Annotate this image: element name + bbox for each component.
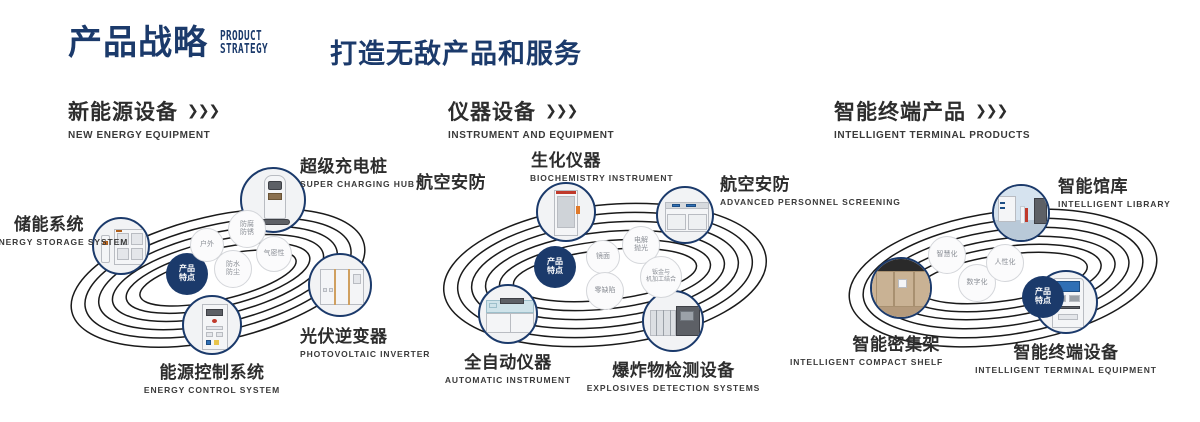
- feature-line-1: 钣金与: [652, 270, 670, 277]
- feature-line-1: 气密性: [264, 250, 285, 258]
- feature-bubble-mirror-finish: 镜面: [586, 240, 620, 274]
- cluster-instrument: 生化仪器 BIOCHEMISTRY INSTRUMENT 航空安防 航空安防 A…: [400, 150, 820, 400]
- label-cn: 爆炸物检测设备: [586, 356, 761, 381]
- label-en: INTELLIGENT LIBRARY: [1058, 199, 1171, 209]
- poster-stage: 产品战略 PRODUCT STRATEGY 打造无敌产品和服务 新能源设备 ❯❯…: [0, 0, 1200, 422]
- node-explosives-detection-systems[interactable]: [642, 290, 704, 352]
- core-bubble-product-features: 产品 特点: [1022, 276, 1064, 318]
- feature-line-1: 数字化: [967, 279, 988, 287]
- feature-line-2: 防尘: [226, 269, 240, 277]
- section-title-en: NEW ENERGY EQUIPMENT: [68, 130, 219, 141]
- label-energy-control-system: 能源控制系统 ENERGY CONTROL SYSTEM: [112, 358, 312, 395]
- label-explosives-detection-systems: 爆炸物检测设备 EXPLOSIVES DETECTION SYSTEMS: [586, 356, 761, 393]
- feature-bubble-zero-defect: 零缺陷: [586, 272, 624, 310]
- section-header-new-energy: 新能源设备 ❯❯❯ NEW ENERGY EQUIPMENT: [68, 96, 219, 141]
- label-cn: 全自动仪器: [422, 348, 594, 373]
- chevron-right-icon: ❯❯❯: [545, 103, 577, 119]
- poster-subtitle: 打造无敌产品和服务: [330, 32, 582, 71]
- feature-line-1: 户外: [200, 241, 214, 249]
- cluster-new-energy: 储能系统 ENERGY STORAGE SYSTEM 超级充电桩 SUPER C…: [0, 150, 420, 400]
- feature-bubble-smart: 智慧化: [928, 236, 966, 274]
- explosives-detector-icon: [644, 292, 702, 350]
- core-line-2: 特点: [547, 267, 563, 276]
- label-en: BIOCHEMISTRY INSTRUMENT: [530, 173, 602, 183]
- label-biochemistry-instrument: 生化仪器 BIOCHEMISTRY INSTRUMENT: [530, 146, 602, 183]
- label-cn: 生化仪器: [530, 146, 602, 171]
- label-cn: 智能馆库: [1058, 172, 1171, 197]
- node-energy-control-system[interactable]: [182, 295, 242, 355]
- core-line-2: 特点: [1035, 297, 1051, 306]
- section-header-intelligent: 智能终端产品 ❯❯❯ INTELLIGENT TERMINAL PRODUCTS: [834, 96, 1030, 141]
- label-en: ENERGY CONTROL SYSTEM: [112, 385, 312, 395]
- node-automatic-instrument[interactable]: [478, 284, 538, 344]
- feature-line-1: 人性化: [995, 259, 1016, 267]
- label-intelligent-terminal-equipment: 智能终端设备 INTELLIGENT TERMINAL EQUIPMENT: [970, 338, 1162, 375]
- biochemistry-instrument-icon: [538, 184, 594, 240]
- screening-machine-icon: [658, 188, 712, 242]
- cluster-intelligent: 智能馆库 INTELLIGENT LIBRARY 智能终端设备 INTELLIG…: [800, 150, 1200, 400]
- feature-bubble-sheet-metal-machining: 钣金与 机加工结合: [640, 256, 682, 298]
- feature-line-1: 智慧化: [937, 251, 958, 259]
- node-photovoltaic-inverter[interactable]: [308, 253, 372, 317]
- label-intelligent-compact-shelf: 智能密集架 INTELLIGENT COMPACT SHELF: [790, 330, 940, 367]
- section-title-text: 新能源设备: [68, 96, 178, 126]
- library-photo-icon: [994, 186, 1048, 240]
- feature-bubble-airtightness: 气密性: [256, 236, 292, 272]
- control-cabinet-icon: [184, 297, 240, 353]
- chevron-right-icon: ❯❯❯: [975, 103, 1007, 119]
- section-title-en: INSTRUMENT AND EQUIPMENT: [448, 130, 614, 141]
- label-cn: 储能系统: [0, 210, 84, 235]
- label-cn: 能源控制系统: [112, 358, 312, 383]
- core-line-2: 特点: [179, 274, 195, 283]
- label-intelligent-library: 智能馆库 INTELLIGENT LIBRARY: [1058, 172, 1171, 209]
- section-title-text: 智能终端产品: [834, 96, 966, 126]
- section-title-en: INTELLIGENT TERMINAL PRODUCTS: [834, 130, 1030, 141]
- label-en: INTELLIGENT TERMINAL EQUIPMENT: [970, 365, 1162, 375]
- feature-line-1: 防水: [226, 261, 240, 269]
- poster-title: 产品战略 PRODUCT STRATEGY: [68, 26, 287, 60]
- title-english: PRODUCT STRATEGY: [220, 30, 268, 56]
- label-en: EXPLOSIVES DETECTION SYSTEMS: [586, 383, 761, 393]
- node-biochemistry-instrument[interactable]: [536, 182, 596, 242]
- label-en: INTELLIGENT COMPACT SHELF: [790, 357, 940, 367]
- chevron-right-icon: ❯❯❯: [187, 103, 219, 119]
- label-cn: 智能终端设备: [970, 338, 1162, 363]
- label-aviation-security: 航空安防: [398, 168, 486, 193]
- section-header-instrument: 仪器设备 ❯❯❯ INSTRUMENT AND EQUIPMENT: [448, 96, 614, 141]
- inverter-icon: [310, 255, 370, 315]
- label-energy-storage-system: 储能系统 ENERGY STORAGE SYSTEM: [0, 210, 84, 247]
- compact-shelf-photo-icon: [872, 259, 930, 317]
- automatic-instrument-icon: [480, 286, 536, 342]
- label-en: ENERGY STORAGE SYSTEM: [0, 237, 84, 247]
- node-intelligent-compact-shelf[interactable]: [870, 257, 932, 319]
- feature-line-2: 机加工结合: [646, 277, 676, 284]
- feature-line-1: 电解: [634, 237, 648, 245]
- feature-line-1: 零缺陷: [595, 287, 616, 295]
- title-english-line2: STRATEGY: [220, 43, 268, 56]
- feature-line-1: 防腐: [240, 221, 254, 229]
- feature-line-2: 抛光: [634, 245, 648, 253]
- node-intelligent-library[interactable]: [992, 184, 1050, 242]
- label-en: AUTOMATIC INSTRUMENT: [422, 375, 594, 385]
- label-cn: 航空安防: [398, 168, 486, 193]
- title-chinese: 产品战略: [68, 26, 208, 60]
- section-title-cn: 仪器设备 ❯❯❯: [448, 96, 614, 126]
- section-title-cn: 新能源设备 ❯❯❯: [68, 96, 219, 126]
- section-title-cn: 智能终端产品 ❯❯❯: [834, 96, 1030, 126]
- feature-line-1: 镜面: [596, 253, 610, 261]
- feature-line-2: 防锈: [240, 229, 254, 237]
- feature-bubble-humanized: 人性化: [986, 244, 1024, 282]
- core-bubble-product-features: 产品 特点: [534, 246, 576, 288]
- label-cn: 智能密集架: [790, 330, 940, 355]
- node-advanced-personnel-screening[interactable]: [656, 186, 714, 244]
- label-automatic-instrument: 全自动仪器 AUTOMATIC INSTRUMENT: [422, 348, 594, 385]
- section-title-text: 仪器设备: [448, 96, 536, 126]
- feature-bubble-waterproof: 防水 防尘: [214, 250, 252, 288]
